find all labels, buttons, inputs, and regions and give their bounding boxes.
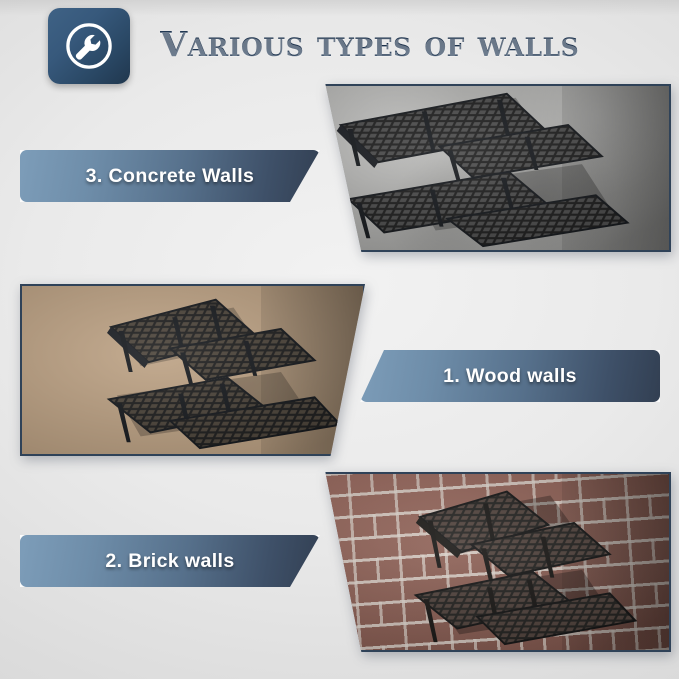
concrete-wall-image — [313, 86, 669, 250]
label-banner-wood-walls[interactable]: 1. Wood walls — [360, 350, 660, 402]
wood-wall-image — [22, 286, 363, 454]
label-banner-brick-walls[interactable]: 2. Brick walls — [20, 535, 320, 587]
banner-label-text: 2. Brick walls — [105, 550, 234, 573]
wrench-in-circle-icon — [64, 21, 114, 71]
brick-wall-image — [313, 474, 669, 650]
label-banner-concrete-walls[interactable]: 3. Concrete Walls — [20, 150, 320, 202]
logo-badge — [48, 8, 130, 84]
panel-wood-wall — [20, 284, 365, 456]
panel-brick-wall — [311, 472, 671, 652]
banner-label-text: 3. Concrete Walls — [86, 165, 255, 188]
panel-vignette — [313, 86, 669, 250]
panel-concrete-wall — [311, 84, 671, 252]
panel-vignette — [313, 474, 669, 650]
page-title: Various types of walls — [160, 16, 660, 72]
panel-vignette — [22, 286, 363, 454]
page-header: Various types of walls — [0, 0, 679, 90]
banner-label-text: 1. Wood walls — [443, 365, 577, 388]
